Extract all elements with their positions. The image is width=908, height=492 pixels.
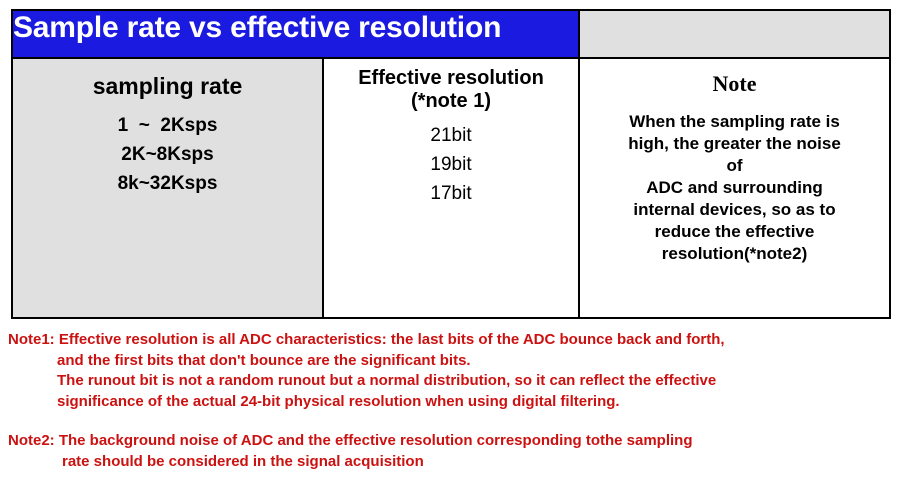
- note-column-body: When the sampling rate is high, the grea…: [580, 111, 889, 265]
- list-item: 1 ~ 2Ksps: [13, 111, 322, 140]
- table-body-row: sampling rate 1 ~ 2Ksps 2K~8Ksps 8k~32Ks…: [12, 58, 890, 318]
- footnote-line: and the first bits that don't bounce are…: [0, 351, 908, 372]
- page-title: Sample rate vs effective resolution: [13, 11, 578, 45]
- footnote-line: Note1: Effective resolution is all ADC c…: [0, 330, 908, 351]
- note-cell: Note When the sampling rate is high, the…: [579, 58, 890, 318]
- footnote-spacer: [0, 412, 908, 431]
- note-body-line: ADC and surrounding: [586, 177, 883, 199]
- effective-resolution-column-header: Effective resolution (*note 1): [324, 67, 578, 113]
- footnote-line: Note2: The background noise of ADC and t…: [0, 431, 908, 452]
- sampling-rate-column-header: sampling rate: [13, 73, 322, 100]
- table-title-cell: Sample rate vs effective resolution: [12, 10, 579, 58]
- list-item: 2K~8Ksps: [13, 140, 322, 169]
- sample-rate-table-container: Sample rate vs effective resolution samp…: [11, 9, 889, 319]
- footnote-note1: Note1: Effective resolution is all ADC c…: [0, 330, 908, 412]
- note-body-line: resolution(*note2): [586, 243, 883, 265]
- sampling-rate-cell: sampling rate 1 ~ 2Ksps 2K~8Ksps 8k~32Ks…: [12, 58, 323, 318]
- effective-resolution-cell: Effective resolution (*note 1) 21bit 19b…: [323, 58, 579, 318]
- sampling-rate-value-list: 1 ~ 2Ksps 2K~8Ksps 8k~32Ksps: [13, 111, 322, 198]
- note-body-line: internal devices, so as to: [586, 199, 883, 221]
- note-body-line: When the sampling rate is: [586, 111, 883, 133]
- list-item: 8k~32Ksps: [13, 169, 322, 198]
- footnote-line: significance of the actual 24-bit physic…: [0, 392, 908, 413]
- footnote-line: rate should be considered in the signal …: [0, 452, 908, 473]
- footnotes-section: Note1: Effective resolution is all ADC c…: [0, 330, 908, 472]
- footnote-note2: Note2: The background noise of ADC and t…: [0, 431, 908, 472]
- table-header-row: Sample rate vs effective resolution: [12, 10, 890, 58]
- note-body-line: reduce the effective: [586, 221, 883, 243]
- note-column-header: Note: [580, 71, 889, 97]
- sample-rate-table: Sample rate vs effective resolution samp…: [11, 9, 891, 319]
- note-body-line: of: [586, 155, 883, 177]
- list-item: 21bit: [324, 121, 578, 150]
- footnote-line: The runout bit is not a random runout bu…: [0, 371, 908, 392]
- note-body-line: high, the greater the noise: [586, 133, 883, 155]
- table-header-blank-cell: [579, 10, 890, 58]
- list-item: 19bit: [324, 150, 578, 179]
- effective-resolution-header-line-2: (*note 1): [324, 90, 578, 113]
- effective-resolution-value-list: 21bit 19bit 17bit: [324, 121, 578, 208]
- list-item: 17bit: [324, 179, 578, 208]
- effective-resolution-header-line-1: Effective resolution: [324, 67, 578, 90]
